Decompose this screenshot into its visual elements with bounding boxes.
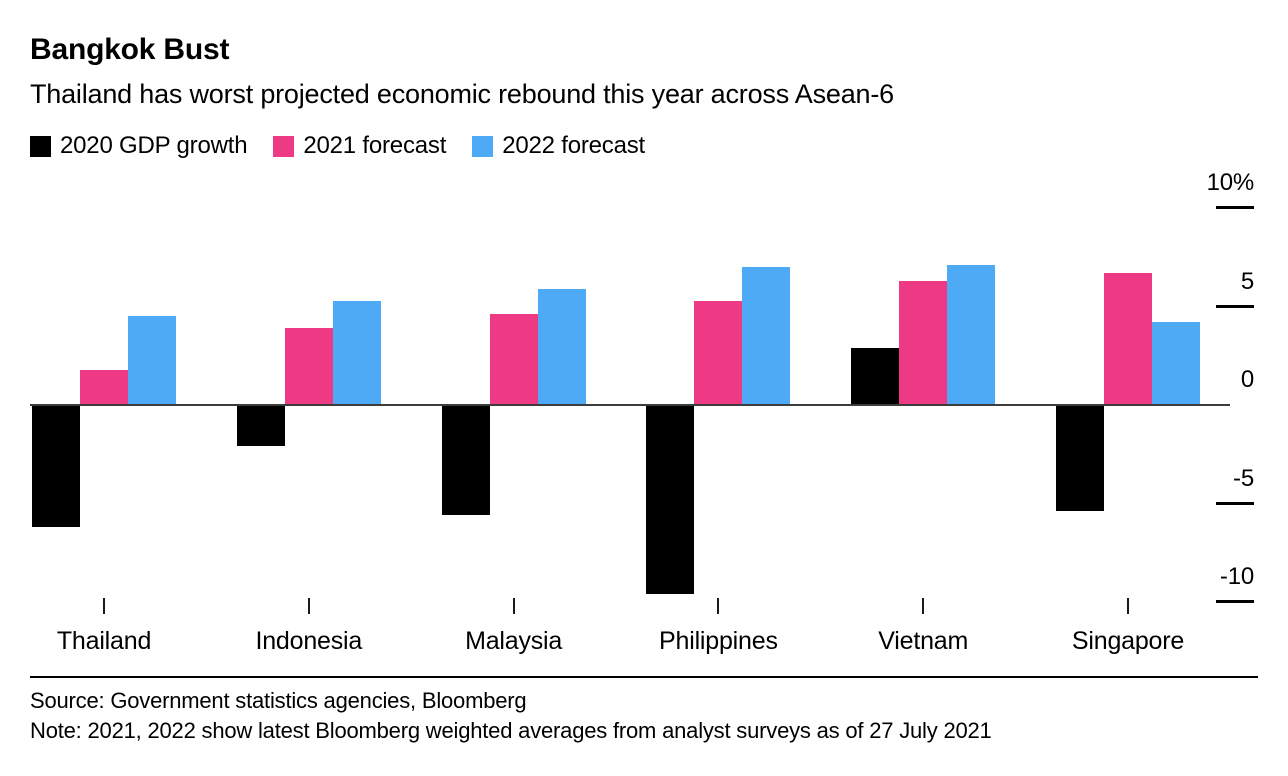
bar-chart-plot: 10%50-5-10 ThailandIndonesiaMalaysiaPhil… (0, 0, 1288, 776)
x-axis-category-label: Malaysia (465, 626, 562, 656)
y-axis-tick-label: -10 (1220, 564, 1254, 590)
y-axis-tick-rule (1216, 600, 1254, 603)
bar[interactable] (851, 348, 899, 405)
x-axis-tick (1127, 598, 1129, 614)
x-axis-tick (717, 598, 719, 614)
bar[interactable] (1056, 405, 1104, 511)
zero-baseline (30, 404, 1230, 406)
bar[interactable] (947, 265, 995, 405)
y-axis-tick-rule (1216, 502, 1254, 505)
x-axis-tick (513, 598, 515, 614)
bar[interactable] (1104, 273, 1152, 405)
y-axis-tick-rule (1216, 305, 1254, 308)
x-axis-category-label: Singapore (1072, 626, 1184, 656)
bar[interactable] (128, 316, 176, 405)
source-text: Source: Government statistics agencies, … (30, 686, 992, 716)
x-axis-category-label: Indonesia (255, 626, 362, 656)
bar[interactable] (32, 405, 80, 527)
bar[interactable] (646, 405, 694, 594)
x-axis-category-label: Thailand (57, 626, 151, 656)
y-axis-tick-rule (1216, 206, 1254, 209)
x-axis-tick (103, 598, 105, 614)
bar[interactable] (442, 405, 490, 515)
bar[interactable] (490, 314, 538, 405)
y-axis-tick-label: 0 (1241, 367, 1254, 393)
bar[interactable] (1152, 322, 1200, 405)
bar[interactable] (899, 281, 947, 405)
footer-divider (30, 676, 1258, 678)
footnotes: Source: Government statistics agencies, … (30, 686, 992, 746)
bar[interactable] (80, 370, 128, 405)
bar[interactable] (237, 405, 285, 446)
bar[interactable] (285, 328, 333, 405)
bar[interactable] (742, 267, 790, 405)
chart-page: Bangkok Bust Thailand has worst projecte… (0, 0, 1288, 776)
bar[interactable] (333, 301, 381, 405)
x-axis-category-label: Philippines (659, 626, 778, 656)
bar[interactable] (694, 301, 742, 405)
x-axis-category-label: Vietnam (878, 626, 968, 656)
bar[interactable] (538, 289, 586, 405)
x-axis-tick (922, 598, 924, 614)
y-axis-tick-label: -5 (1233, 466, 1254, 492)
note-text: Note: 2021, 2022 show latest Bloomberg w… (30, 716, 992, 746)
y-axis-tick-label: 5 (1241, 269, 1254, 295)
y-axis-tick-label: 10% (1207, 170, 1254, 196)
x-axis-tick (308, 598, 310, 614)
